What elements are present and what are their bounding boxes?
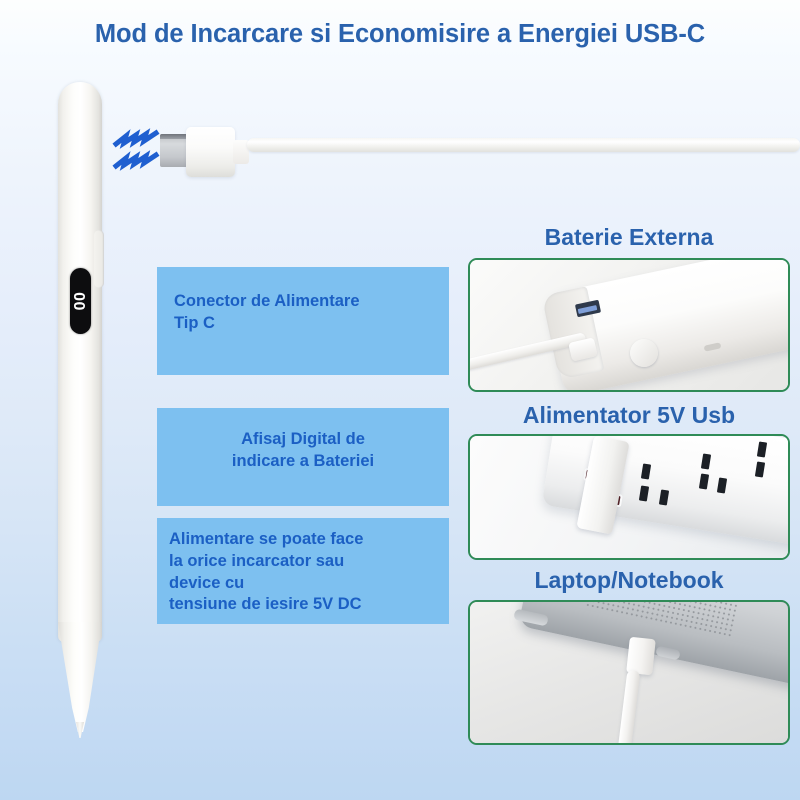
section-label-power-bank: Baterie Externa: [468, 224, 790, 251]
callout-line: Afisaj Digital de: [157, 429, 449, 451]
power-source-callout: Alimentare se poate face la orice incarc…: [157, 518, 449, 624]
callout-line: device cu: [169, 573, 449, 595]
usb-c-metal-edge: [160, 134, 188, 139]
usb-c-housing: [186, 127, 235, 177]
page-title: Mod de Incarcare si Economisire a Energi…: [0, 20, 800, 49]
callout-line: la orice incarcator sau: [169, 551, 449, 573]
power-bank-photo: [468, 258, 790, 392]
laptop-photo: [468, 600, 790, 745]
pen-body: [58, 82, 102, 642]
lightning-bolt-icon: [112, 126, 164, 180]
callout-line: indicare a Bateriei: [157, 451, 449, 473]
digital-battery-display-callout: Afisaj Digital de indicare a Bateriei: [157, 408, 449, 506]
callout-line: tensiune de iesire 5V DC: [169, 594, 449, 616]
power-strip-photo: [468, 434, 790, 560]
usb-c-connector: [160, 127, 250, 185]
callout-line: Conector de Alimentare: [174, 291, 449, 313]
product-infographic: Mod de Incarcare si Economisire a Energi…: [0, 0, 800, 800]
pen-digital-display: 00: [70, 268, 91, 334]
section-label-usb-power-adapter: Alimentator 5V Usb: [468, 402, 790, 429]
pen-charging-port: [94, 230, 104, 288]
stylus-pen-illustration: 00: [54, 82, 112, 732]
callout-line: Tip C: [174, 313, 449, 335]
charging-cable: [247, 138, 800, 152]
callout-line: Alimentare se poate face: [169, 529, 449, 551]
battery-level-value: 00: [73, 292, 89, 311]
usb-c-connector-callout: Conector de Alimentare Tip C: [157, 267, 449, 375]
section-label-laptop: Laptop/Notebook: [468, 567, 790, 594]
pen-taper: [58, 622, 102, 732]
